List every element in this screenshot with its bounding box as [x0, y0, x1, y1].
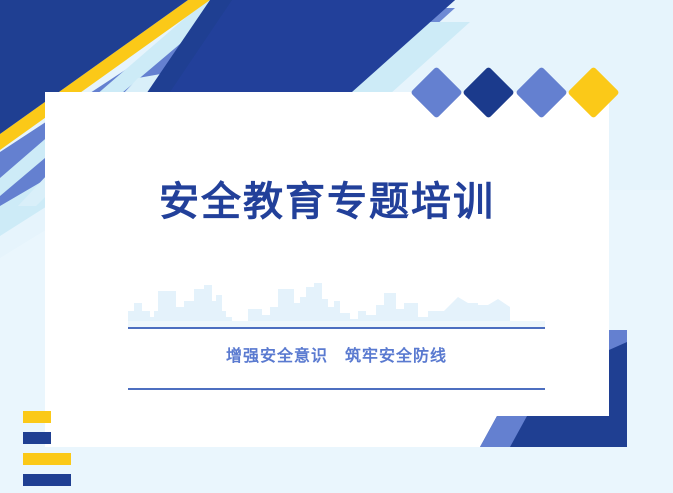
diamond-4-icon: [567, 66, 619, 118]
accent-bar-navy-long: [23, 474, 71, 486]
diamond-3-icon: [515, 66, 567, 118]
diamond-2-icon: [462, 66, 514, 118]
city-skyline-icon: [128, 281, 545, 329]
accent-bar-yellow-short: [23, 411, 51, 423]
diamond-1-icon: [410, 66, 462, 118]
corner-bottom-right-decoration: [480, 330, 673, 455]
diamond-row: [415, 66, 620, 120]
page-title: 安全教育专题培训: [45, 178, 609, 226]
accent-bar-yellow-long: [23, 453, 71, 465]
divider-top: [128, 327, 545, 329]
slide-canvas: 安全教育专题培训 增强安全意识 筑牢安全防线 安全教育专题培训: [0, 0, 673, 493]
accent-bar-navy-short: [23, 432, 51, 444]
